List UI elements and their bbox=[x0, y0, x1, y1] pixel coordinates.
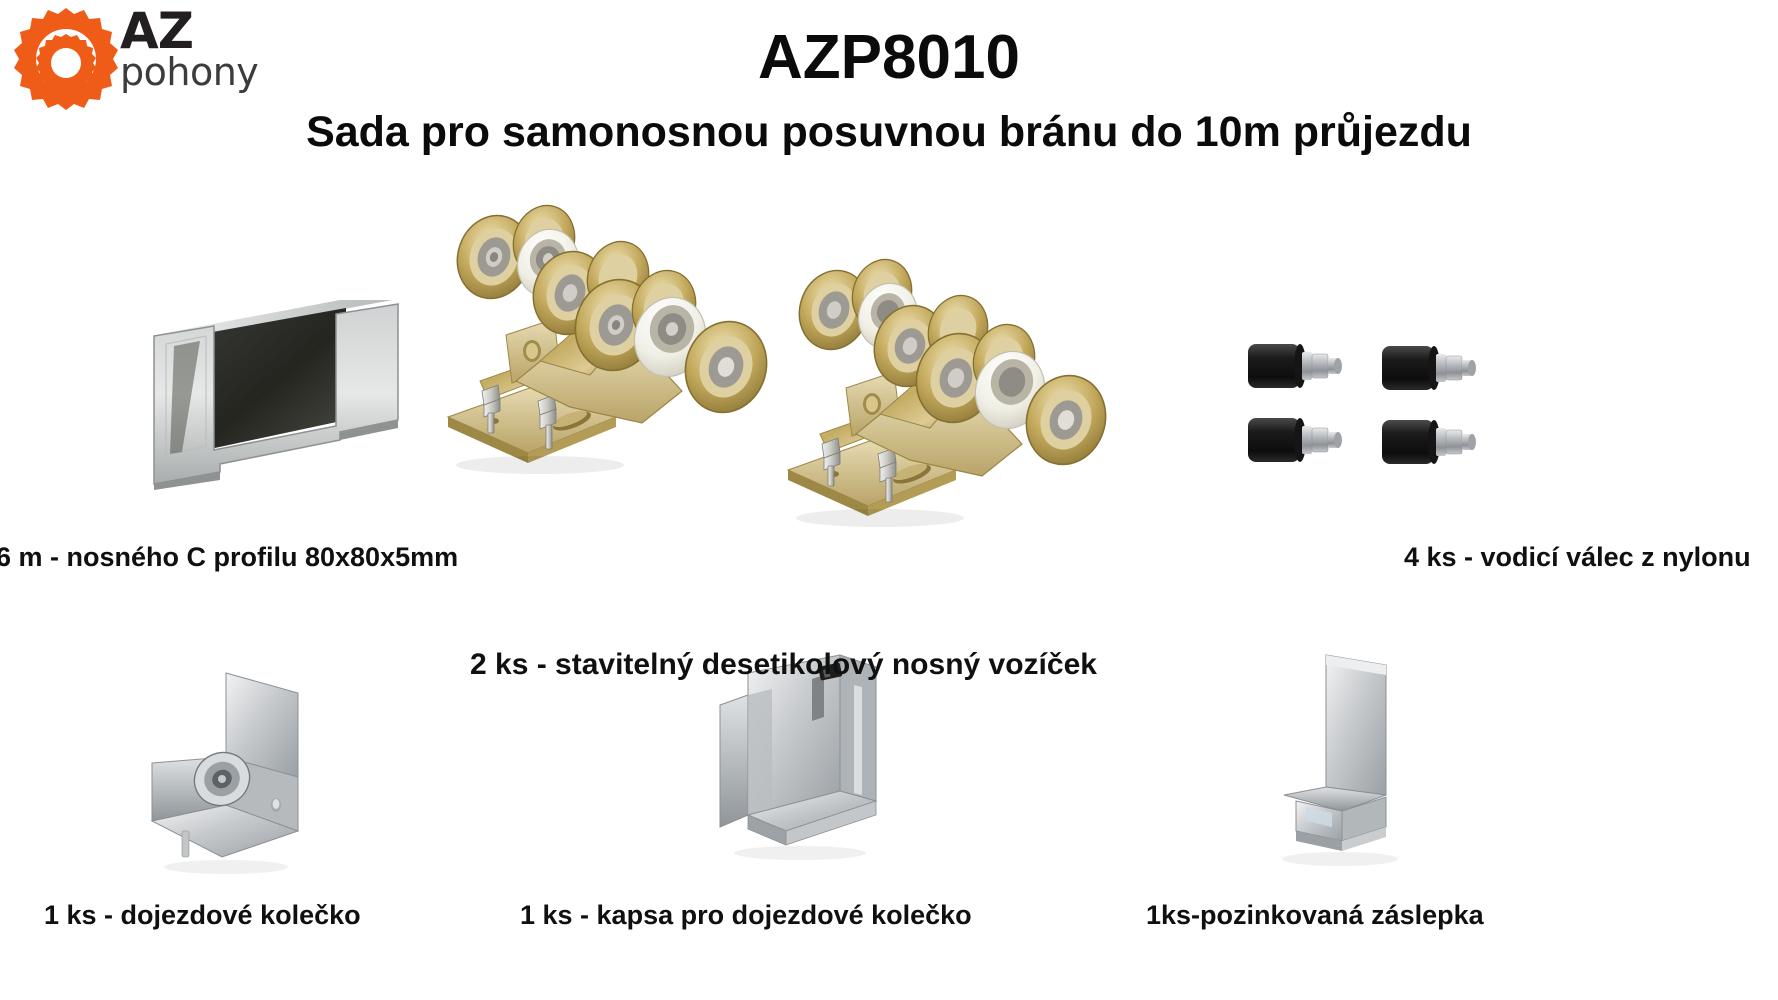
caption-end-cap: 1ks-pozinkovaná záslepka bbox=[1146, 900, 1484, 931]
caption-c-profile: 6 m - nosného C profilu 80x80x5mm bbox=[0, 542, 458, 573]
ten-wheel-carriage-icon bbox=[420, 185, 760, 485]
product-infographic: AZ pohony AZP8010 Sada pro samonosnou po… bbox=[0, 0, 1778, 1000]
caption-nylon-roller: 4 ks - vodicí válec z nylonu bbox=[1404, 542, 1751, 573]
caption-end-wheel: 1 ks - dojezdové kolečko bbox=[44, 900, 361, 931]
nylon-guide-roller-group bbox=[1246, 338, 1516, 478]
page-title: AZP8010 bbox=[0, 22, 1778, 93]
nylon-roller-4 bbox=[1382, 420, 1476, 464]
nylon-roller-1 bbox=[1248, 344, 1342, 388]
page-subtitle: Sada pro samonosnou posuvnou bránu do 10… bbox=[0, 108, 1778, 157]
galvanized-end-cap-icon bbox=[1232, 645, 1462, 875]
end-wheel-bracket-icon bbox=[130, 645, 350, 875]
nylon-roller-3 bbox=[1248, 418, 1342, 462]
c-profile-rail-icon bbox=[140, 300, 410, 490]
ten-wheel-carriage-icon-2 bbox=[760, 238, 1100, 538]
caption-carriage: 2 ks - stavitelný desetikolový nosný voz… bbox=[470, 648, 1097, 682]
nylon-roller-2 bbox=[1382, 346, 1476, 390]
caption-catch-pocket: 1 ks - kapsa pro dojezdové kolečko bbox=[520, 900, 972, 931]
